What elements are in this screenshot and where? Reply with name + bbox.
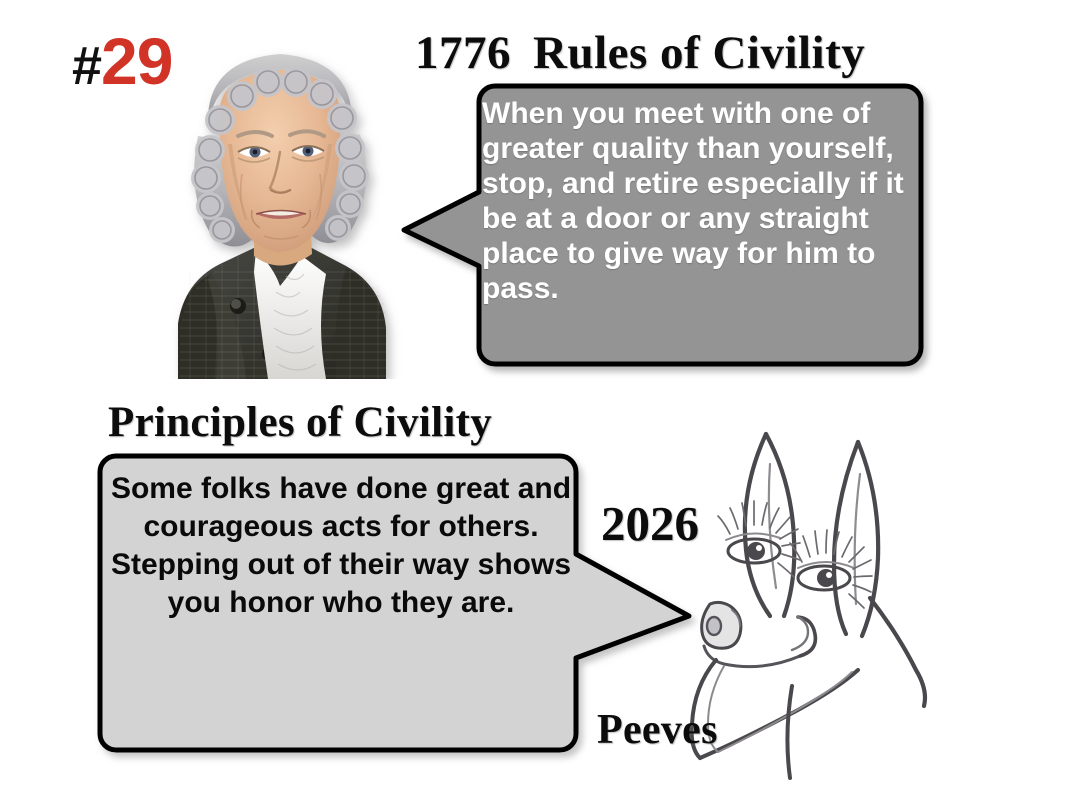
speech-bubble-washington-text: When you meet with one of greater qualit… <box>482 96 912 306</box>
george-washington-portrait <box>150 24 410 379</box>
speech-bubble-washington: When you meet with one of greater qualit… <box>400 80 925 372</box>
hash-symbol: # <box>72 36 101 96</box>
speech-bubble-peeves-text: Some folks have done great and courageou… <box>106 470 576 622</box>
title-year-1776: 1776 <box>415 27 511 79</box>
page-title-principles-of-civility: Principles of Civility <box>108 398 492 447</box>
page-title-rules-of-civility: 1776Rules of Civility <box>415 26 865 80</box>
title-text-rules: Rules of Civility <box>533 27 865 79</box>
character-name-peeves: Peeves <box>597 706 718 754</box>
donkey-line-drawing <box>688 418 1050 796</box>
year-label-2026: 2026 <box>601 495 699 552</box>
poster-canvas: #29 <box>0 0 1090 806</box>
